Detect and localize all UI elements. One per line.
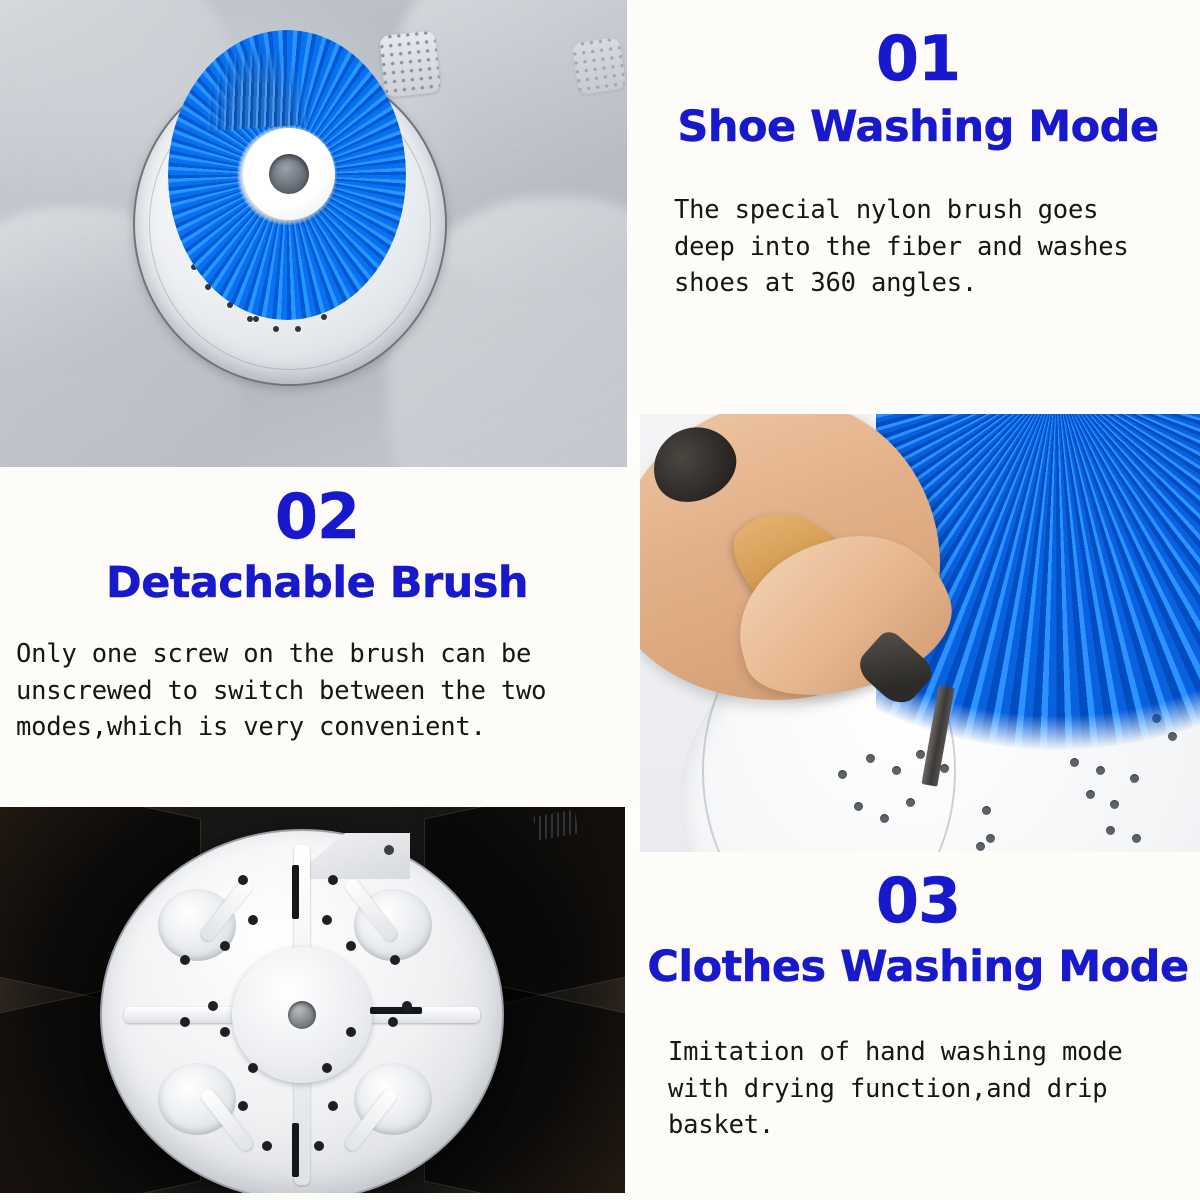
photo-hand-unscrewing-brush (640, 414, 1200, 852)
white-pulsator-plate (100, 829, 504, 1193)
panel-headline-03: Clothes Washing Mode (644, 944, 1192, 990)
thumb-nail (641, 414, 747, 514)
panel-headline-01: Shoe Washing Mode (644, 104, 1192, 150)
plate-slot (292, 1123, 299, 1177)
drain-vent-grille (572, 37, 627, 95)
panel-number-03: 03 (644, 870, 1192, 932)
blue-brush-bristle-fan (192, 14, 319, 132)
center-screw (288, 1001, 316, 1029)
panel-detachable-brush: 02 Detachable Brush Only one screw on th… (0, 468, 634, 806)
plate-slot (292, 865, 299, 919)
panel-number-01: 01 (644, 28, 1192, 90)
infographic-page: 01 Shoe Washing Mode The special nylon b… (0, 0, 1200, 1200)
photo-washing-tub-with-brush (0, 0, 627, 467)
panel-headline-02: Detachable Brush (6, 560, 628, 606)
plate-slot (370, 1007, 422, 1014)
photo-pulsator-disc (0, 807, 625, 1193)
panel-clothes-washing-mode: 03 Clothes Washing Mode Imitation of han… (636, 852, 1200, 1200)
panel-number-02: 02 (6, 486, 628, 548)
panel-body-01: The special nylon brush goes deep into t… (644, 192, 1192, 301)
panel-body-02: Only one screw on the brush can be unscr… (6, 636, 628, 745)
panel-body-03: Imitation of hand washing mode with dryi… (644, 1034, 1192, 1143)
brush-center-hub (243, 128, 335, 220)
panel-shoe-washing-mode: 01 Shoe Washing Mode The special nylon b… (636, 0, 1200, 410)
